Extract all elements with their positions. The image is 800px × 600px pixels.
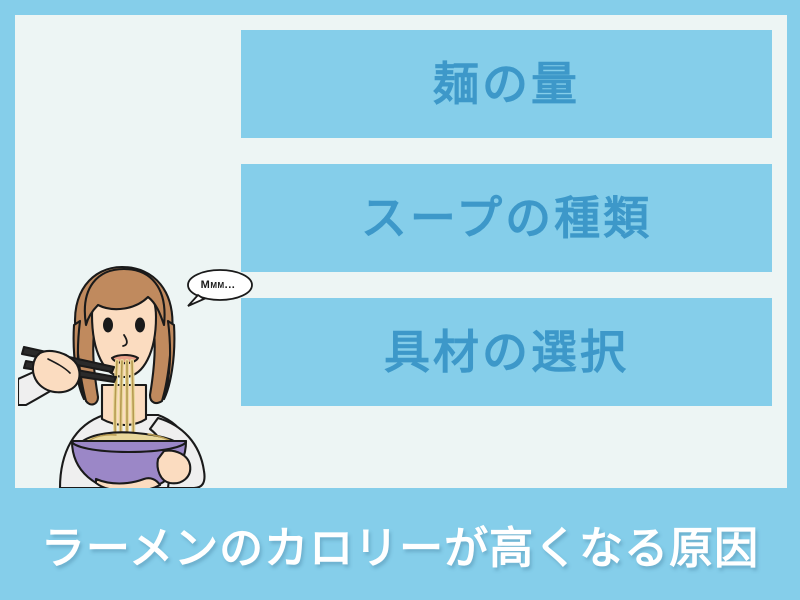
factor-bar-list: 麺の量 スープの種類 具材の選択: [241, 30, 772, 432]
right-eye: [135, 318, 145, 333]
factor-bar-3[interactable]: 具材の選択: [241, 298, 772, 406]
caption-band: ラーメンのカロリーが高くなる原因: [0, 488, 800, 600]
left-eye: [103, 318, 113, 333]
caption-title: ラーメンのカロリーが高くなる原因: [41, 512, 759, 576]
factor-bar-3-label: 具材の選択: [384, 329, 629, 375]
factor-bar-2-label: スープの種類: [361, 195, 652, 241]
right-hand: [158, 451, 191, 484]
bubble-tail: [188, 295, 204, 306]
factor-bar-1-label: 麺の量: [433, 61, 580, 107]
infographic-root: 麺の量 スープの種類 具材の選択: [0, 0, 800, 600]
speech-bubble: Mmm...: [184, 268, 258, 310]
factor-bar-2[interactable]: スープの種類: [241, 164, 772, 272]
neck: [102, 385, 146, 425]
factor-bar-1[interactable]: 麺の量: [241, 30, 772, 138]
